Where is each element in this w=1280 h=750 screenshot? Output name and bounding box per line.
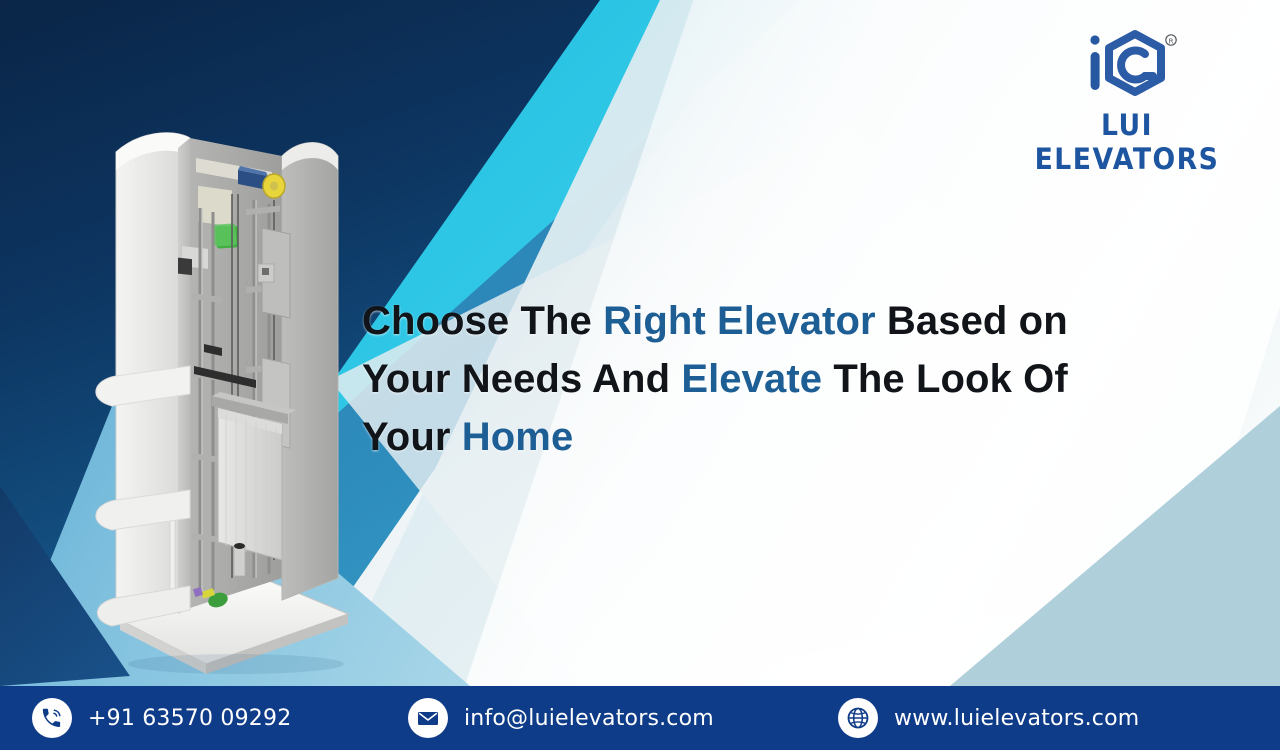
- headline-segment: Your: [362, 415, 462, 459]
- headline: Choose The Right Elevator Based on Your …: [362, 292, 1202, 466]
- headline-line-3: Your Home: [362, 408, 1202, 466]
- promotional-banner: Choose The Right Elevator Based on Your …: [0, 0, 1280, 750]
- svg-text:R: R: [1169, 37, 1174, 45]
- headline-segment: The Look Of: [822, 357, 1068, 401]
- mail-icon: [408, 698, 448, 738]
- contact-email[interactable]: info@luielevators.com: [400, 698, 830, 738]
- headline-accent-right-elevator: Right Elevator: [603, 299, 876, 343]
- elevator-shaft-image: [86, 108, 366, 688]
- brand-logo[interactable]: R LUI ELEVATORS: [1022, 28, 1232, 176]
- headline-accent-elevate: Elevate: [681, 357, 822, 401]
- phone-number-text: +91 63570 09292: [88, 706, 291, 731]
- lui-hexagon-ic-icon: R: [1075, 28, 1179, 104]
- elevator-cutaway-illustration: [86, 108, 366, 688]
- headline-line-1: Choose The Right Elevator Based on: [362, 292, 1202, 350]
- contact-footer-bar: +91 63570 09292 info@luielevators.com: [0, 686, 1280, 750]
- headline-segment: Your Needs And: [362, 357, 681, 401]
- contact-phone[interactable]: +91 63570 09292: [0, 698, 400, 738]
- headline-segment: Choose The: [362, 299, 603, 343]
- globe-icon: [838, 698, 878, 738]
- brand-wordmark: LUI ELEVATORS: [1030, 108, 1223, 176]
- phone-icon: [32, 698, 72, 738]
- contact-website[interactable]: www.luielevators.com: [830, 698, 1280, 738]
- headline-segment: Based on: [876, 299, 1068, 343]
- headline-accent-home: Home: [462, 415, 574, 459]
- headline-line-2: Your Needs And Elevate The Look Of: [362, 350, 1202, 408]
- email-address-text: info@luielevators.com: [464, 706, 714, 731]
- website-url-text: www.luielevators.com: [894, 706, 1139, 731]
